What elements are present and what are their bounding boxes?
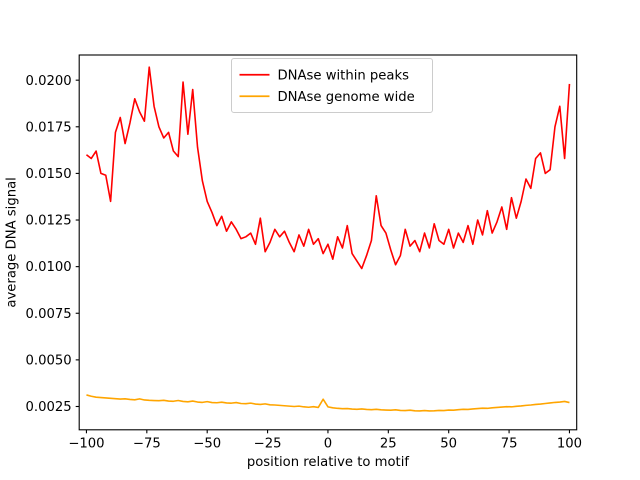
chart-canvas: −100−75−50−250255075100 0.00250.00500.00… — [0, 0, 640, 480]
y-tick-label: 0.0175 — [26, 120, 72, 135]
matplotlib-figure: −100−75−50−250255075100 0.00250.00500.00… — [0, 0, 640, 480]
y-tick-label: 0.0150 — [26, 167, 72, 182]
y-tick-label: 0.0125 — [26, 214, 72, 229]
x-tick-label: 100 — [557, 436, 582, 451]
y-tick-label: 0.0100 — [26, 260, 72, 275]
y-tick-label: 0.0200 — [26, 74, 72, 89]
x-tick-label: 50 — [440, 436, 457, 451]
y-tick-label: 0.0075 — [26, 307, 72, 322]
x-tick-label: −100 — [68, 436, 104, 451]
legend: DNAse within peaksDNAse genome wide — [232, 59, 433, 113]
x-tick-labels: −100−75−50−250255075100 — [68, 436, 582, 451]
x-tick-label: 25 — [380, 436, 397, 451]
x-tick-label: 0 — [324, 436, 332, 451]
y-axis-label: average DNA signal — [5, 177, 20, 307]
x-tick-label: 75 — [501, 436, 518, 451]
legend-label-0: DNAse within peaks — [278, 69, 410, 84]
x-tick-label: −25 — [254, 436, 282, 451]
legend-label-1: DNAse genome wide — [278, 90, 415, 105]
y-tick-label: 0.0025 — [26, 400, 72, 415]
y-tick-label: 0.0050 — [26, 353, 72, 368]
x-axis-label: position relative to motif — [247, 455, 410, 470]
x-tick-label: −50 — [193, 436, 221, 451]
x-tick-label: −75 — [133, 436, 161, 451]
